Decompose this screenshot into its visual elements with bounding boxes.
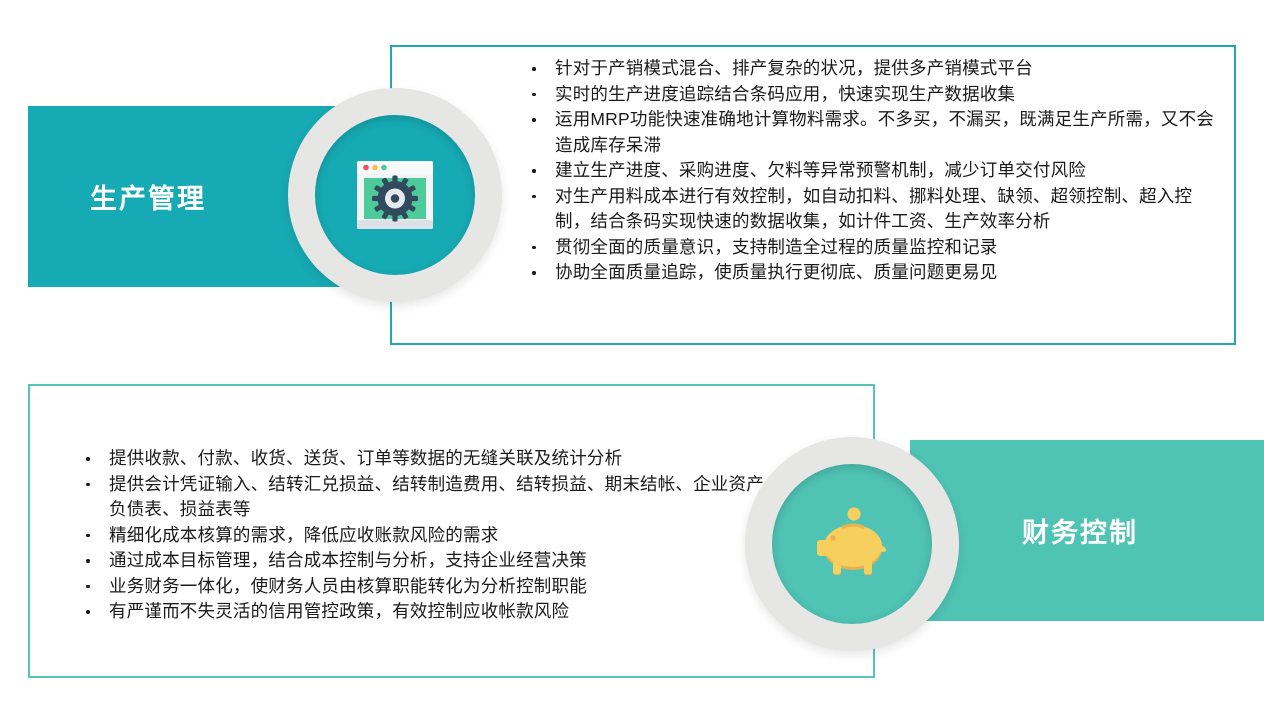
list-item: 提供会计凭证输入、结转汇兑损益、结转制造费用、结转损益、期末结帐、企业资产负债表… (80, 472, 780, 523)
list-item: 建立生产进度、采购进度、欠料等异常预警机制，减少订单交付风险 (526, 158, 1226, 184)
financial-bullet-list: 提供收款、付款、收货、送货、订单等数据的无缝关联及统计分析 提供会计凭证输入、结… (80, 446, 780, 625)
production-banner-title: 生产管理 (90, 177, 206, 216)
list-item: 协助全面质量追踪，使质量执行更彻底、质量问题更易见 (526, 260, 1226, 286)
financial-banner-title: 财务控制 (1022, 511, 1138, 550)
list-item: 针对于产销模式混合、排产复杂的状况，提供多产销模式平台 (526, 56, 1226, 82)
list-item: 通过成本目标管理，结合成本控制与分析，支持企业经营决策 (80, 548, 780, 574)
list-item: 对生产用料成本进行有效控制，如自动扣料、挪料处理、缺领、超领控制、超入控制，结合… (526, 184, 1226, 235)
list-item: 实时的生产进度追踪结合条码应用，快速实现生产数据收集 (526, 82, 1226, 108)
piggy-bank-icon (809, 501, 895, 587)
list-item: 有严谨而不失灵活的信用管控政策，有效控制应收帐款风险 (80, 599, 780, 625)
production-badge-disc (315, 115, 475, 275)
financial-banner: 财务控制 (910, 440, 1264, 621)
production-badge (288, 88, 502, 302)
production-bullet-list: 针对于产销模式混合、排产复杂的状况，提供多产销模式平台 实时的生产进度追踪结合条… (526, 56, 1226, 286)
list-item: 贯彻全面的质量意识，支持制造全过程的质量监控和记录 (526, 235, 1226, 261)
financial-badge-disc (772, 464, 932, 624)
browser-gear-icon (352, 152, 438, 238)
list-item: 运用MRP功能快速准确地计算物料需求。不多买，不漏买，既满足生产所需，又不会造成… (526, 107, 1226, 158)
list-item: 业务财务一体化，使财务人员由核算职能转化为分析控制职能 (80, 574, 780, 600)
list-item: 精细化成本核算的需求，降低应收账款风险的需求 (80, 523, 780, 549)
list-item: 提供收款、付款、收货、送货、订单等数据的无缝关联及统计分析 (80, 446, 780, 472)
